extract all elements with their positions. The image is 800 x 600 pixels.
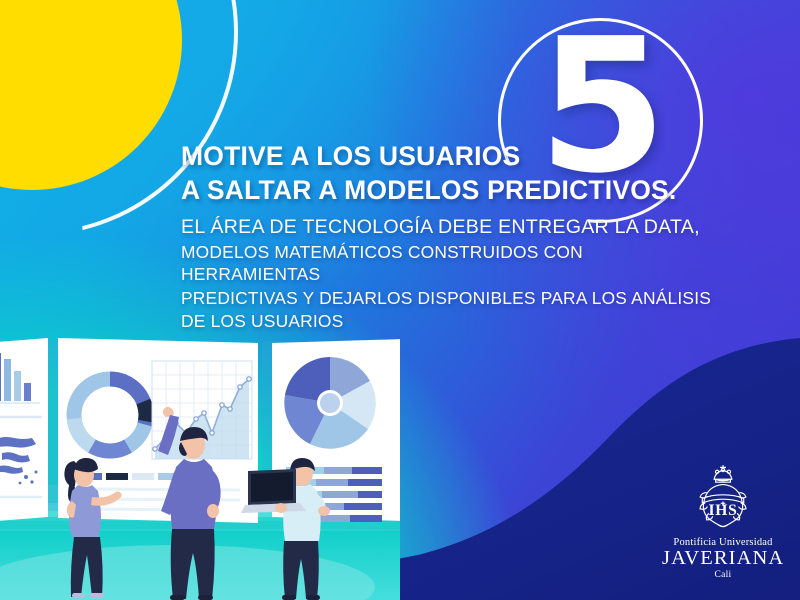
pie-chart <box>284 357 375 449</box>
headline-line-1: MOTIVE A LOS USUARIOS <box>181 139 726 173</box>
headline-line-2: A SALTAR A MODELOS PREDICTIVOS. <box>181 173 726 207</box>
logo-line-3: Cali <box>662 570 784 580</box>
university-logo: IHS Pontificia Universidad JAVERIANA Cal… <box>662 460 784 580</box>
slide-canvas: 5 MOTIVE A LOS USUARIOS A SALTAR A MODEL… <box>0 0 800 600</box>
javeriana-crest-icon: IHS <box>686 460 760 534</box>
body-line-2: MODELOS MATEMÁTICOS CONSTRUIDOS CON HERR… <box>181 241 726 286</box>
body-line-1: EL ÁREA DE TECNOLOGÍA DEBE ENTREGAR LA D… <box>181 216 726 240</box>
logo-line-2: JAVERIANA <box>662 548 784 570</box>
panel-left <box>0 338 48 522</box>
analytics-illustration <box>0 325 400 600</box>
